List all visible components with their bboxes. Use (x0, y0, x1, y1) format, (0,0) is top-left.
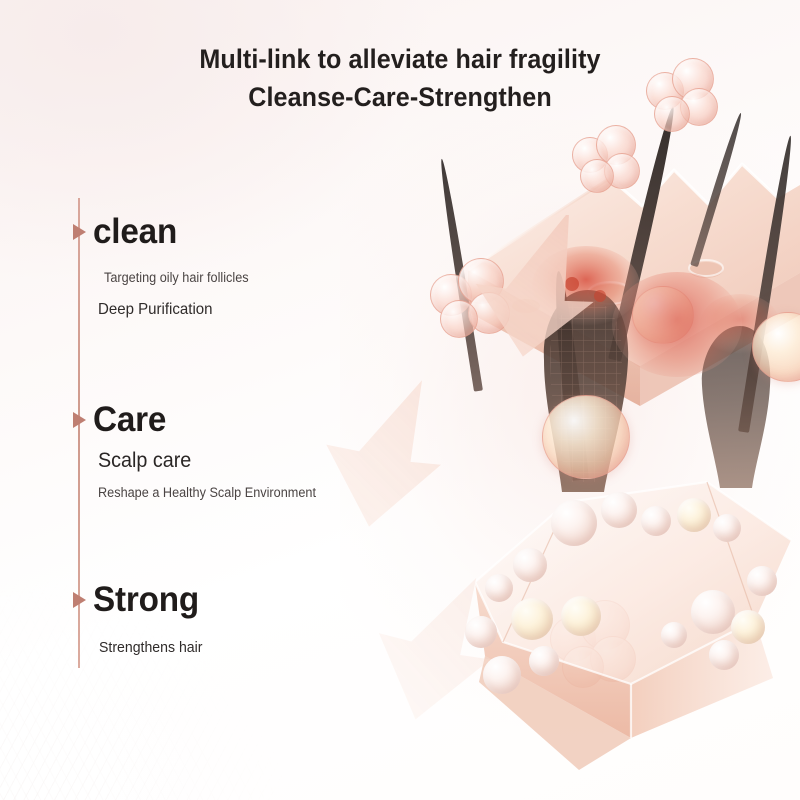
heading-block: Multi-link to alleviate hair fragility C… (0, 40, 800, 117)
step-care-title: Care (93, 402, 166, 437)
triangle-bullet-icon (73, 412, 86, 428)
pearl-bead (661, 622, 687, 648)
scalp-cross-section-illustration (400, 0, 800, 800)
step-clean-line-2: Deep Purification (98, 301, 248, 319)
heading-line-1: Multi-link to alleviate hair fragility (28, 40, 772, 78)
pearl-bead (529, 646, 559, 676)
triangle-bullet-icon (73, 224, 86, 240)
step-clean-title: clean (93, 214, 177, 249)
step-care-line-1: Scalp care (98, 449, 316, 473)
pearl-bead (483, 656, 521, 694)
step-clean-line-1: Targeting oily hair follicles (104, 270, 249, 285)
heading-line-2: Cleanse-Care-Strengthen (28, 78, 772, 116)
pearl-bead (691, 590, 735, 634)
step-care[interactable]: Care Scalp care Reshape a Healthy Scalp … (72, 402, 330, 500)
triangle-bullet-icon (73, 592, 86, 608)
step-strong-title: Strong (93, 582, 199, 617)
pearl-bead (485, 574, 513, 602)
poster-canvas: Multi-link to alleviate hair fragility C… (0, 0, 800, 800)
step-strong[interactable]: Strong Strengthens hair (72, 582, 209, 656)
pearl-bead (641, 506, 671, 536)
pearl-bead (561, 596, 601, 636)
pearl-bead (731, 610, 765, 644)
pearl-beads (455, 470, 800, 780)
pearl-bead (601, 492, 637, 528)
pearl-bead (747, 566, 777, 596)
steps-list: clean Targeting oily hair follicles Deep… (0, 0, 420, 800)
pearl-bead (513, 548, 547, 582)
step-strong-header: Strong (72, 582, 209, 617)
step-clean-header: clean (72, 214, 258, 249)
pearl-bead (677, 498, 711, 532)
molecule-cluster (430, 258, 512, 338)
pearl-bead (709, 640, 739, 670)
step-strong-line-1: Strengthens hair (99, 639, 202, 656)
step-clean[interactable]: clean Targeting oily hair follicles Deep… (72, 214, 258, 319)
pearl-bead (465, 616, 497, 648)
molecule-cluster (572, 125, 644, 195)
pearl-bead (511, 598, 553, 640)
step-care-header: Care (72, 402, 330, 437)
step-care-line-2: Reshape a Healthy Scalp Environment (98, 485, 316, 500)
pearl-bead (551, 500, 597, 546)
pearl-bead (713, 514, 741, 542)
